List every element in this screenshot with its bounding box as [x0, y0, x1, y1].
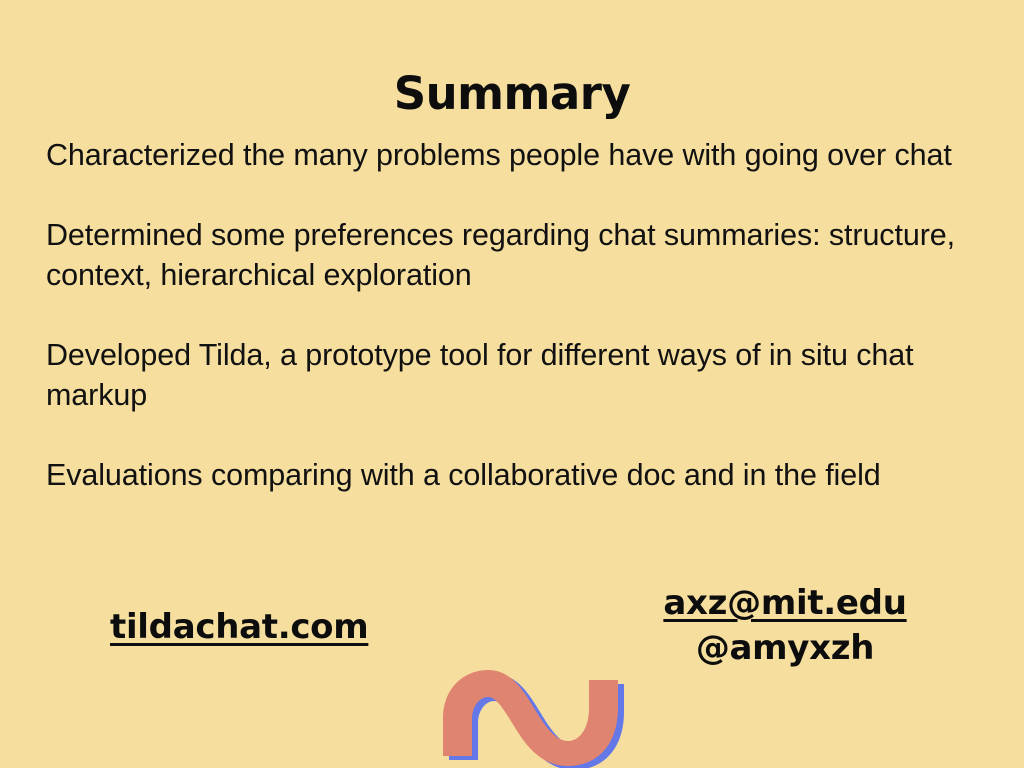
body-paragraph: Evaluations comparing with a collaborati…	[46, 455, 1012, 495]
body-paragraph: Characterized the many problems people h…	[46, 135, 1012, 175]
social-handle[interactable]: @amyxzh	[620, 626, 950, 671]
email-link[interactable]: axz@mit.edu	[663, 581, 906, 626]
slide-canvas: Summary Characterized the many problems …	[0, 0, 1024, 768]
paragraph-spacer	[46, 295, 1012, 335]
paragraph-spacer	[46, 415, 1012, 455]
website-link[interactable]: tildachat.com	[110, 607, 368, 647]
paragraph-spacer	[46, 175, 1012, 215]
body-content: Characterized the many problems people h…	[46, 135, 1012, 495]
body-paragraph: Developed Tilda, a prototype tool for di…	[46, 335, 1012, 415]
tilde-main-stroke	[443, 670, 618, 766]
contact-block: axz@mit.edu @amyxzh	[620, 581, 950, 671]
body-paragraph: Determined some preferences regarding ch…	[46, 215, 1012, 295]
page-title: Summary	[0, 67, 1024, 121]
tilde-logo-icon	[432, 660, 632, 768]
